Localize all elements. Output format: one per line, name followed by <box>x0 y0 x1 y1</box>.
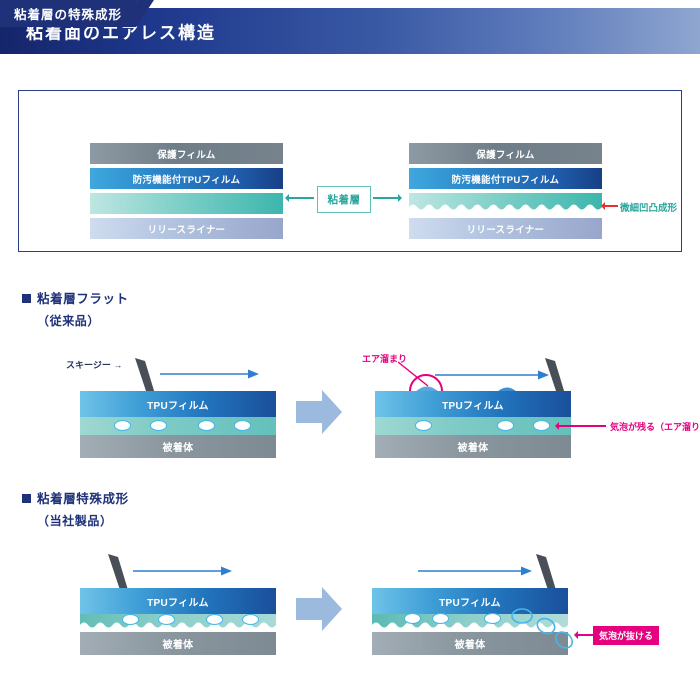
section-flat-subheading: （従来品） <box>37 312 100 329</box>
air-bubble <box>497 420 514 431</box>
flow-direction-arrow <box>133 565 233 577</box>
air-bubble <box>206 614 223 625</box>
layer-release-liner: リリースライナー <box>409 218 602 239</box>
air-bubble <box>533 420 550 431</box>
micro-texture-label: 微細凹凸成形 <box>620 200 677 214</box>
flow-direction-arrow <box>435 369 550 381</box>
bullet-square-icon <box>22 294 31 303</box>
transition-arrow-icon <box>296 585 342 633</box>
flat-adhesive-stack: 保護フィルム 防汚機能付TPUフィルム リリースライナー <box>90 143 283 243</box>
air-bubble <box>415 420 432 431</box>
air-bubble <box>114 420 131 431</box>
air-bubble <box>432 613 449 624</box>
tpu-film-block: TPUフィルム <box>375 391 571 417</box>
substrate-block: 被着体 <box>80 632 276 655</box>
layer-protective-film: 保護フィルム <box>90 143 283 164</box>
bubbles-escape-label: 気泡が抜ける <box>593 626 659 645</box>
escaping-bubbles-icon <box>510 608 590 654</box>
substrate-block: 被着体 <box>80 435 276 458</box>
air-bubble <box>122 614 139 625</box>
tpu-film-block: TPUフィルム <box>80 391 276 417</box>
squeegee-label: スキージー → <box>66 358 122 371</box>
bubbles-escape-leader <box>575 634 593 636</box>
bubbles-remain-leader <box>556 425 606 427</box>
air-bubble <box>198 420 215 431</box>
air-bubble <box>158 614 175 625</box>
layer-release-liner: リリースライナー <box>90 218 283 239</box>
bullet-square-icon <box>22 494 31 503</box>
substrate-block: 被着体 <box>375 435 571 458</box>
flow-direction-arrow <box>418 565 533 577</box>
bubbles-remain-label: 気泡が残る（エア溜り） <box>610 420 700 433</box>
section-textured-subheading: （当社製品） <box>37 512 113 529</box>
arrow-to-right-stack <box>373 197 401 199</box>
wavy-adhesive-shape <box>409 193 602 216</box>
section-flat-heading: 粘着層フラット <box>22 288 129 307</box>
air-bubble <box>234 420 251 431</box>
layer-adhesive-textured <box>409 193 602 216</box>
textured-adhesive-stack: 保護フィルム 防汚機能付TPUフィルム リリースライナー <box>409 143 602 243</box>
micro-texture-arrow <box>602 205 618 207</box>
adhesive-layer-callout: 粘着層 <box>317 186 371 213</box>
layer-antifouling-tpu-film: 防汚機能付TPUフィルム <box>90 168 283 189</box>
layer-antifouling-tpu-film: 防汚機能付TPUフィルム <box>409 168 602 189</box>
section-textured-heading: 粘着層特殊成形 <box>22 488 129 507</box>
air-bubble <box>242 614 259 625</box>
layer-adhesive-flat <box>90 193 283 214</box>
layer-protective-film: 保護フィルム <box>409 143 602 164</box>
air-bubble <box>150 420 167 431</box>
air-bubble <box>484 613 501 624</box>
flow-direction-arrow <box>160 368 260 380</box>
air-bubble <box>404 613 421 624</box>
arrow-to-left-stack <box>286 197 314 199</box>
diagram-page: 粘着面のエアレス構造 粘着層の特殊成形 保護フィルム 防汚機能付TPUフィルム … <box>0 0 700 700</box>
tpu-film-block: TPUフィルム <box>80 588 276 614</box>
transition-arrow-icon <box>296 388 342 436</box>
